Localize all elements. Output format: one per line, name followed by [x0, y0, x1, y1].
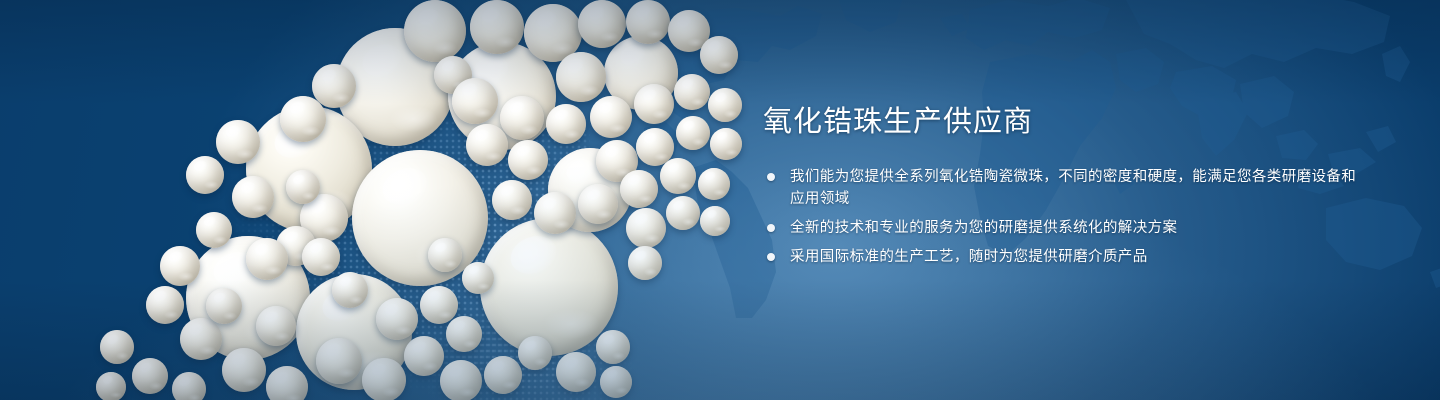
- list-item: 采用国际标准的生产工艺，随时为您提供研磨介质产品: [763, 246, 1363, 268]
- bullet-circle-icon: [767, 173, 775, 181]
- list-item: 我们能为您提供全系列氧化锆陶瓷微珠，不同的密度和硬度，能满足您各类研磨设备和应用…: [763, 166, 1363, 210]
- bullet-circle-icon: [767, 224, 775, 232]
- page-title: 氧化锆珠生产供应商: [763, 104, 1363, 140]
- list-item-label: 采用国际标准的生产工艺，随时为您提供研磨介质产品: [790, 249, 1148, 265]
- feature-list: 我们能为您提供全系列氧化锆陶瓷微珠，不同的密度和硬度，能满足您各类研磨设备和应用…: [763, 166, 1363, 268]
- list-item-label: 全新的技术和专业的服务为您的研磨提供系统化的解决方案: [790, 220, 1177, 236]
- list-item: 全新的技术和专业的服务为您的研磨提供系统化的解决方案: [763, 217, 1363, 239]
- hero-banner: 氧化锆珠生产供应商 我们能为您提供全系列氧化锆陶瓷微珠，不同的密度和硬度，能满足…: [0, 0, 1440, 400]
- banner-copy: 氧化锆珠生产供应商 我们能为您提供全系列氧化锆陶瓷微珠，不同的密度和硬度，能满足…: [763, 104, 1363, 268]
- list-item-label: 我们能为您提供全系列氧化锆陶瓷微珠，不同的密度和硬度，能满足您各类研磨设备和应用…: [790, 169, 1356, 207]
- bullet-circle-icon: [767, 253, 775, 261]
